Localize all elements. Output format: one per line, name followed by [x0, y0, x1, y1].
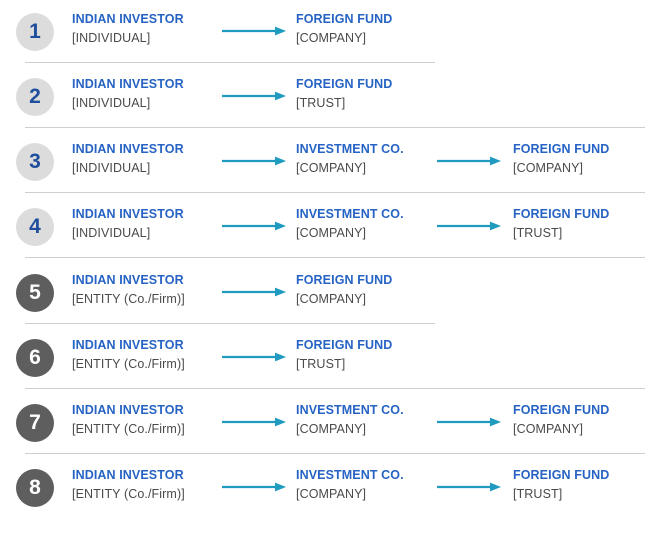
entity-node-title: INVESTMENT CO.: [296, 141, 404, 158]
structure-diagram: 1INDIAN INVESTOR[INDIVIDUAL]FOREIGN FUND…: [0, 0, 650, 534]
entity-node-title: INDIAN INVESTOR: [72, 141, 184, 158]
structure-row: 2INDIAN INVESTOR[INDIVIDUAL]FOREIGN FUND…: [0, 65, 650, 130]
structure-row: 6INDIAN INVESTOR[ENTITY (Co./Firm)]FOREI…: [0, 326, 650, 391]
row-number-badge: 3: [16, 143, 54, 181]
entity-node: INDIAN INVESTOR[INDIVIDUAL]: [72, 141, 184, 177]
entity-node-title: FOREIGN FUND: [296, 11, 392, 28]
row-divider: [25, 127, 645, 128]
flow-arrow-icon: [222, 90, 286, 102]
entity-node-subtype: [TRUST]: [296, 355, 392, 373]
structure-row: 3INDIAN INVESTOR[INDIVIDUAL]INVESTMENT C…: [0, 130, 650, 195]
row-divider: [25, 323, 435, 324]
entity-node: FOREIGN FUND[TRUST]: [513, 467, 609, 503]
flow-arrow-icon: [222, 220, 286, 232]
flow-arrow-icon: [437, 481, 501, 493]
entity-node: FOREIGN FUND[COMPANY]: [296, 272, 392, 308]
entity-node-subtype: [INDIVIDUAL]: [72, 159, 184, 177]
row-divider: [25, 388, 645, 389]
entity-node-title: FOREIGN FUND: [513, 206, 609, 223]
entity-node: FOREIGN FUND[COMPANY]: [513, 402, 609, 438]
entity-node-subtype: [INDIVIDUAL]: [72, 94, 184, 112]
entity-node-subtype: [COMPANY]: [296, 29, 392, 47]
row-number-badge: 4: [16, 208, 54, 246]
row-number-badge: 1: [16, 13, 54, 51]
entity-node-subtype: [COMPANY]: [296, 159, 404, 177]
row-divider: [25, 453, 645, 454]
entity-node-subtype: [INDIVIDUAL]: [72, 29, 184, 47]
entity-node-title: FOREIGN FUND: [296, 337, 392, 354]
flow-arrow-icon: [437, 220, 501, 232]
entity-node: INDIAN INVESTOR[INDIVIDUAL]: [72, 76, 184, 112]
entity-node-title: INDIAN INVESTOR: [72, 467, 185, 484]
row-number-badge: 6: [16, 339, 54, 377]
entity-node-subtype: [COMPANY]: [296, 224, 404, 242]
flow-arrow-icon: [222, 481, 286, 493]
entity-node-title: INDIAN INVESTOR: [72, 402, 185, 419]
entity-node: INDIAN INVESTOR[INDIVIDUAL]: [72, 206, 184, 242]
entity-node-subtype: [INDIVIDUAL]: [72, 224, 184, 242]
flow-arrow-icon: [222, 25, 286, 37]
entity-node-title: FOREIGN FUND: [513, 467, 609, 484]
entity-node-subtype: [ENTITY (Co./Firm)]: [72, 485, 185, 503]
entity-node-title: INDIAN INVESTOR: [72, 272, 185, 289]
entity-node-title: INVESTMENT CO.: [296, 402, 404, 419]
entity-node: INDIAN INVESTOR[ENTITY (Co./Firm)]: [72, 272, 185, 308]
flow-arrow-icon: [222, 286, 286, 298]
entity-node-subtype: [COMPANY]: [296, 420, 404, 438]
row-number-badge: 7: [16, 404, 54, 442]
entity-node: INVESTMENT CO.[COMPANY]: [296, 402, 404, 438]
entity-node-title: FOREIGN FUND: [513, 141, 609, 158]
row-divider: [25, 257, 645, 258]
row-number-badge: 5: [16, 274, 54, 312]
row-number-badge: 2: [16, 78, 54, 116]
structure-row: 7INDIAN INVESTOR[ENTITY (Co./Firm)]INVES…: [0, 391, 650, 456]
entity-node-subtype: [COMPANY]: [296, 485, 404, 503]
entity-node: INDIAN INVESTOR[ENTITY (Co./Firm)]: [72, 402, 185, 438]
flow-arrow-icon: [222, 351, 286, 363]
entity-node-subtype: [COMPANY]: [513, 420, 609, 438]
row-divider: [25, 192, 645, 193]
entity-node-subtype: [COMPANY]: [296, 290, 392, 308]
entity-node: INDIAN INVESTOR[ENTITY (Co./Firm)]: [72, 337, 185, 373]
row-divider: [25, 62, 435, 63]
entity-node-title: INDIAN INVESTOR: [72, 337, 185, 354]
entity-node-subtype: [ENTITY (Co./Firm)]: [72, 290, 185, 308]
entity-node: INVESTMENT CO.[COMPANY]: [296, 141, 404, 177]
entity-node: INDIAN INVESTOR[INDIVIDUAL]: [72, 11, 184, 47]
structure-row: 1INDIAN INVESTOR[INDIVIDUAL]FOREIGN FUND…: [0, 0, 650, 65]
entity-node-title: INDIAN INVESTOR: [72, 11, 184, 28]
entity-node: FOREIGN FUND[TRUST]: [296, 76, 392, 112]
entity-node: INVESTMENT CO.[COMPANY]: [296, 206, 404, 242]
entity-node: INDIAN INVESTOR[ENTITY (Co./Firm)]: [72, 467, 185, 503]
structure-row: 5INDIAN INVESTOR[ENTITY (Co./Firm)]FOREI…: [0, 261, 650, 326]
entity-node-subtype: [ENTITY (Co./Firm)]: [72, 355, 185, 373]
structure-row: 4INDIAN INVESTOR[INDIVIDUAL]INVESTMENT C…: [0, 195, 650, 260]
entity-node-title: INVESTMENT CO.: [296, 467, 404, 484]
entity-node-subtype: [TRUST]: [296, 94, 392, 112]
entity-node-subtype: [TRUST]: [513, 224, 609, 242]
row-number-badge: 8: [16, 469, 54, 507]
entity-node-title: FOREIGN FUND: [296, 76, 392, 93]
structure-row: 8INDIAN INVESTOR[ENTITY (Co./Firm)]INVES…: [0, 456, 650, 521]
entity-node-subtype: [COMPANY]: [513, 159, 609, 177]
entity-node-title: FOREIGN FUND: [296, 272, 392, 289]
flow-arrow-icon: [437, 155, 501, 167]
entity-node-title: INDIAN INVESTOR: [72, 206, 184, 223]
entity-node: INVESTMENT CO.[COMPANY]: [296, 467, 404, 503]
entity-node-subtype: [ENTITY (Co./Firm)]: [72, 420, 185, 438]
entity-node-subtype: [TRUST]: [513, 485, 609, 503]
entity-node-title: INDIAN INVESTOR: [72, 76, 184, 93]
flow-arrow-icon: [222, 155, 286, 167]
entity-node-title: INVESTMENT CO.: [296, 206, 404, 223]
entity-node: FOREIGN FUND[TRUST]: [513, 206, 609, 242]
entity-node: FOREIGN FUND[TRUST]: [296, 337, 392, 373]
flow-arrow-icon: [437, 416, 501, 428]
entity-node: FOREIGN FUND[COMPANY]: [296, 11, 392, 47]
entity-node: FOREIGN FUND[COMPANY]: [513, 141, 609, 177]
flow-arrow-icon: [222, 416, 286, 428]
entity-node-title: FOREIGN FUND: [513, 402, 609, 419]
